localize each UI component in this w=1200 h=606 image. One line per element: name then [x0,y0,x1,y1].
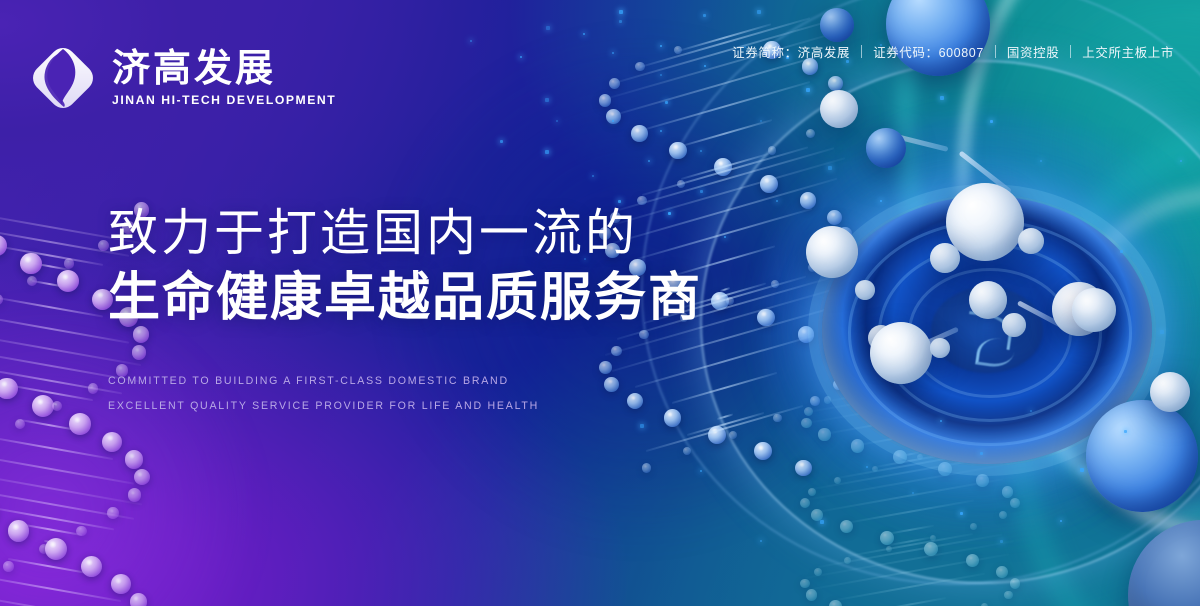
particle-dot [760,540,762,542]
particle-dot [660,45,662,47]
particle-dot [704,65,706,67]
divider [1070,45,1071,58]
particle-dot [828,166,832,170]
particle-dot [960,512,963,515]
leaf-diamond-icon [28,43,98,113]
particle-dot [880,200,882,202]
particle-dot [700,150,702,152]
particle-dot [640,424,644,428]
hero-copy: 致力于打造国内一流的 生命健康卓越品质服务商 COMMITTED TO BUIL… [108,204,702,419]
particle-dot [1180,160,1182,162]
particle-dot [612,120,614,122]
particle-dot [820,520,824,524]
headline-line-1: 致力于打造国内一流的 [108,204,702,263]
particle-dot [546,26,550,30]
particle-dot [660,74,662,76]
particle-dot [700,190,703,193]
particle-dot [1040,160,1042,162]
particle-dot [1120,250,1123,253]
particle-dot [940,420,942,422]
particle-dot [980,452,983,455]
divider [861,45,862,58]
particle-dot [700,470,702,472]
particle-dot [583,33,585,35]
particle-dot [619,10,623,14]
particle-dot [776,200,778,202]
particle-dot [1030,410,1032,412]
particle-dot [500,140,503,143]
subtitle-line-1: COMMITTED TO BUILDING A FIRST-CLASS DOME… [108,369,702,394]
particle-dot [545,150,549,154]
particle-dot [470,40,472,42]
particle-dot [665,101,668,104]
particle-dot [912,492,914,494]
particle-dot [760,120,762,122]
subtitle-block: COMMITTED TO BUILDING A FIRST-CLASS DOME… [108,369,702,419]
particle-dot [757,10,761,14]
hero-banner: 济高发展 JINAN HI-TECH DEVELOPMENT 证券简称：济高发展… [0,0,1200,606]
stock-info-bar: 证券简称：济高发展 证券代码：600807 国资控股 上交所主板上市 [732,42,1174,61]
particle-dot [1160,330,1164,334]
particle-dot [1080,468,1084,472]
particle-dot [556,120,558,122]
particle-dot [592,175,594,177]
particle-dot [545,98,549,102]
divider [995,45,996,58]
headline-line-2: 生命健康卓越品质服务商 [108,267,702,329]
particle-dot [520,56,522,58]
subtitle-line-2: EXCELLENT QUALITY SERVICE PROVIDER FOR L… [108,394,702,419]
stock-short-name: 证券简称：济高发展 [732,42,850,61]
particle-dot [724,236,726,238]
brand-logo[interactable]: 济高发展 JINAN HI-TECH DEVELOPMENT [28,43,336,113]
particle-dot [806,88,810,92]
particle-dot [648,160,650,162]
particle-dot [940,96,944,100]
particle-dot [866,466,868,468]
listing-board: 上交所主板上市 [1082,42,1174,61]
brand-name-cn: 济高发展 [112,49,336,87]
brand-name-en: JINAN HI-TECH DEVELOPMENT [112,93,336,107]
particle-dot [660,130,662,132]
state-owned-badge: 国资控股 [1007,42,1059,61]
particle-dot [618,200,621,203]
particle-dot [1124,430,1127,433]
stock-code: 证券代码：600807 [873,42,984,61]
particle-dot [990,120,993,123]
particle-dot [703,14,706,17]
particle-dot [1060,520,1062,522]
particle-dot [1000,540,1003,543]
particle-dot [619,20,622,23]
particle-dot [612,52,614,54]
